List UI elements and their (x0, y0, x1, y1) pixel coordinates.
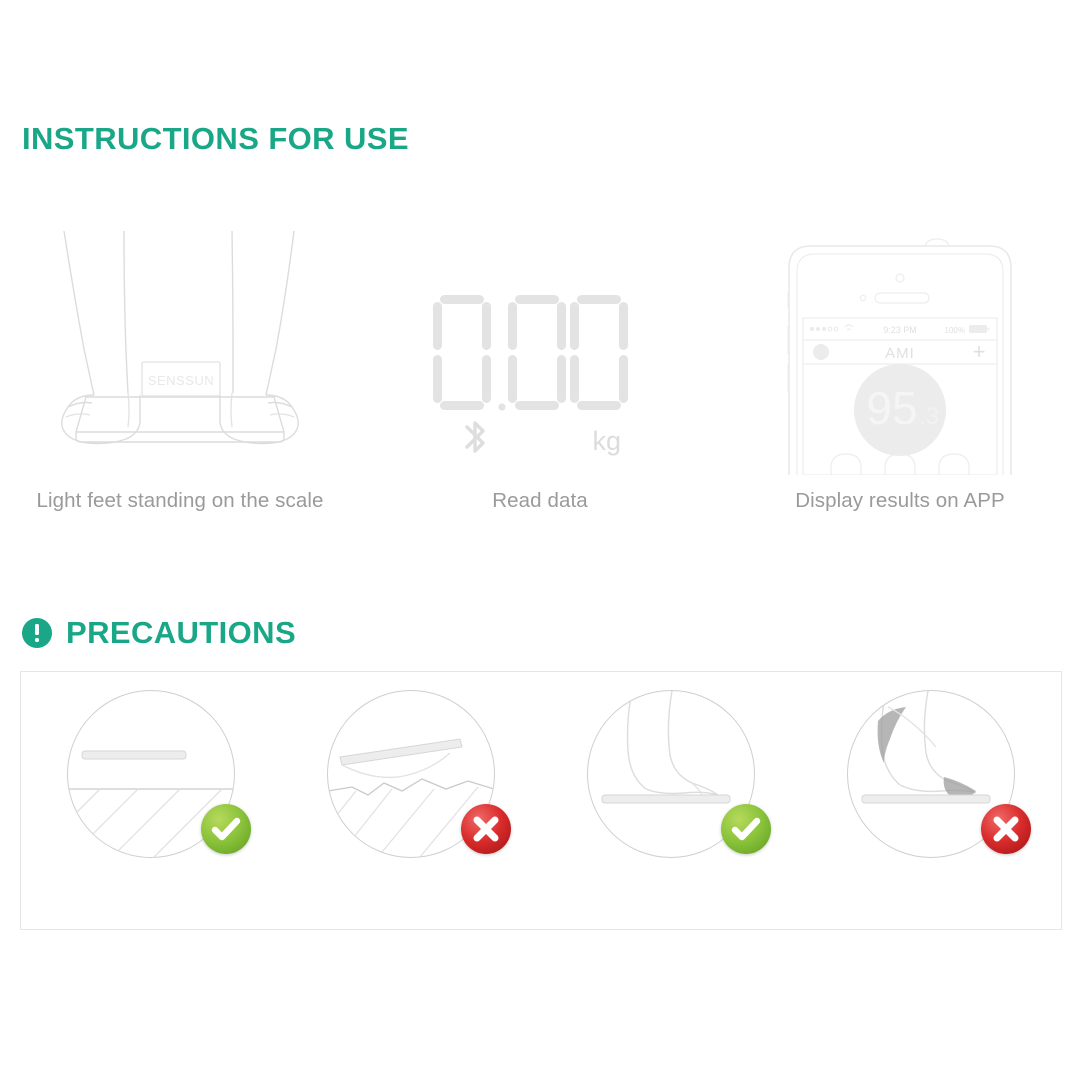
phone-app-title: AMI (885, 345, 915, 362)
instruction-step-2: kg 0.00 Read data (360, 210, 720, 540)
scale-brand-label: SENSSUN (148, 373, 214, 388)
check-circle-icon (201, 804, 251, 854)
instruction-steps: SENSSUN (0, 210, 1080, 540)
instruction-step-3-caption: Display results on APP (795, 489, 1005, 513)
check-circle-icon (721, 804, 771, 854)
weight-value-decimal: .3 (919, 403, 939, 430)
cross-circle-icon (981, 804, 1031, 854)
feet-on-scale-illustration: SENSSUN (0, 210, 360, 475)
avatar[interactable] (813, 344, 829, 360)
tab-icon-3[interactable] (939, 454, 969, 475)
lcd-digit-0-a (433, 295, 491, 410)
precaution-item-1 (21, 690, 281, 880)
add-entry-button[interactable]: + (973, 339, 986, 364)
phone-status-battery: 100% (945, 326, 965, 335)
instruction-step-1: SENSSUN (0, 210, 360, 540)
instruction-step-3: 9:23 PM 100% AMI + 95 .3 (720, 210, 1080, 540)
lcd-digit-0-b (508, 295, 566, 410)
tab-icon-2[interactable] (885, 454, 915, 475)
feet-scale-svg: SENSSUN (30, 225, 330, 475)
bluetooth-icon (467, 423, 483, 451)
lcd-svg: kg 0.00 (425, 275, 655, 475)
smartphone-app-illustration: 9:23 PM 100% AMI + 95 .3 (720, 210, 1080, 475)
exclamation-circle-icon (22, 618, 52, 648)
phone-status-time: 9:23 PM (883, 325, 917, 335)
lcd-unit-label: kg (592, 426, 621, 456)
lcd-digit-0-c (570, 295, 628, 410)
precautions-heading-group: PRECAUTIONS (22, 615, 296, 651)
precaution-item-2 (281, 690, 541, 880)
page-title-precautions: PRECAUTIONS (66, 615, 296, 651)
weight-value-whole: 95 (866, 382, 917, 434)
precautions-list (21, 690, 1061, 880)
cross-circle-icon (461, 804, 511, 854)
product-instruction-page: INSTRUCTIONS FOR USE SENSSUN (0, 0, 1080, 1080)
phone-tab-bar[interactable] (831, 454, 969, 475)
precaution-item-3 (541, 690, 801, 880)
instruction-step-1-caption: Light feet standing on the scale (37, 489, 324, 513)
precaution-item-4 (801, 690, 1061, 880)
lcd-decimal-point (498, 403, 505, 410)
phone-svg: 9:23 PM 100% AMI + 95 .3 (775, 230, 1025, 475)
instruction-step-2-caption: Read data (492, 489, 588, 513)
lcd-display-illustration: kg 0.00 (360, 210, 720, 475)
page-title-instructions: INSTRUCTIONS FOR USE (22, 121, 409, 157)
phone-status-bar: 9:23 PM 100% (810, 325, 990, 335)
tab-icon-1[interactable] (831, 454, 861, 475)
precautions-panel (20, 671, 1062, 930)
